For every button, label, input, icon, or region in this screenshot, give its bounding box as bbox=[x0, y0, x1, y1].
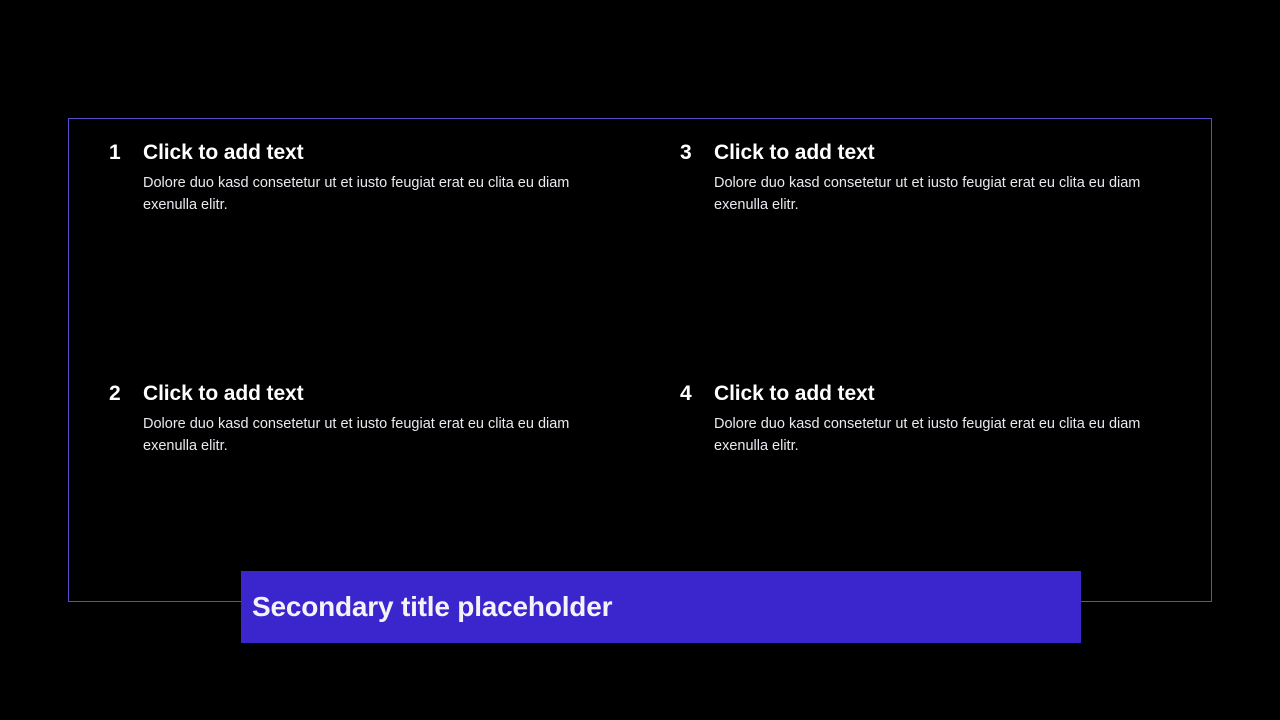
content-item-2[interactable]: 2 Click to add text Dolore duo kasd cons… bbox=[69, 360, 640, 601]
content-item-body[interactable]: Dolore duo kasd consetetur ut et iusto f… bbox=[714, 173, 1188, 216]
content-item-header: 3 Click to add text bbox=[680, 141, 1195, 164]
content-item-header: 2 Click to add text bbox=[109, 382, 624, 405]
content-item-3[interactable]: 3 Click to add text Dolore duo kasd cons… bbox=[640, 119, 1211, 360]
content-item-number: 4 bbox=[680, 382, 714, 405]
content-placeholder-frame[interactable]: 1 Click to add text Dolore duo kasd cons… bbox=[68, 118, 1212, 602]
content-item-title[interactable]: Click to add text bbox=[143, 141, 304, 164]
content-item-title[interactable]: Click to add text bbox=[143, 382, 304, 405]
content-item-header: 1 Click to add text bbox=[109, 141, 624, 164]
content-item-number: 2 bbox=[109, 382, 143, 405]
content-item-4[interactable]: 4 Click to add text Dolore duo kasd cons… bbox=[640, 360, 1211, 601]
content-item-number: 3 bbox=[680, 141, 714, 164]
content-item-header: 4 Click to add text bbox=[680, 382, 1195, 405]
content-item-body[interactable]: Dolore duo kasd consetetur ut et iusto f… bbox=[143, 173, 617, 216]
content-item-number: 1 bbox=[109, 141, 143, 164]
slide-canvas: 1 Click to add text Dolore duo kasd cons… bbox=[0, 0, 1280, 720]
content-item-title[interactable]: Click to add text bbox=[714, 141, 875, 164]
content-item-1[interactable]: 1 Click to add text Dolore duo kasd cons… bbox=[69, 119, 640, 360]
content-grid: 1 Click to add text Dolore duo kasd cons… bbox=[69, 119, 1211, 601]
content-item-body[interactable]: Dolore duo kasd consetetur ut et iusto f… bbox=[143, 414, 617, 457]
secondary-title-placeholder[interactable]: Secondary title placeholder bbox=[241, 571, 1081, 643]
content-item-body[interactable]: Dolore duo kasd consetetur ut et iusto f… bbox=[714, 414, 1188, 457]
content-item-title[interactable]: Click to add text bbox=[714, 382, 875, 405]
secondary-title-text[interactable]: Secondary title placeholder bbox=[252, 592, 612, 623]
